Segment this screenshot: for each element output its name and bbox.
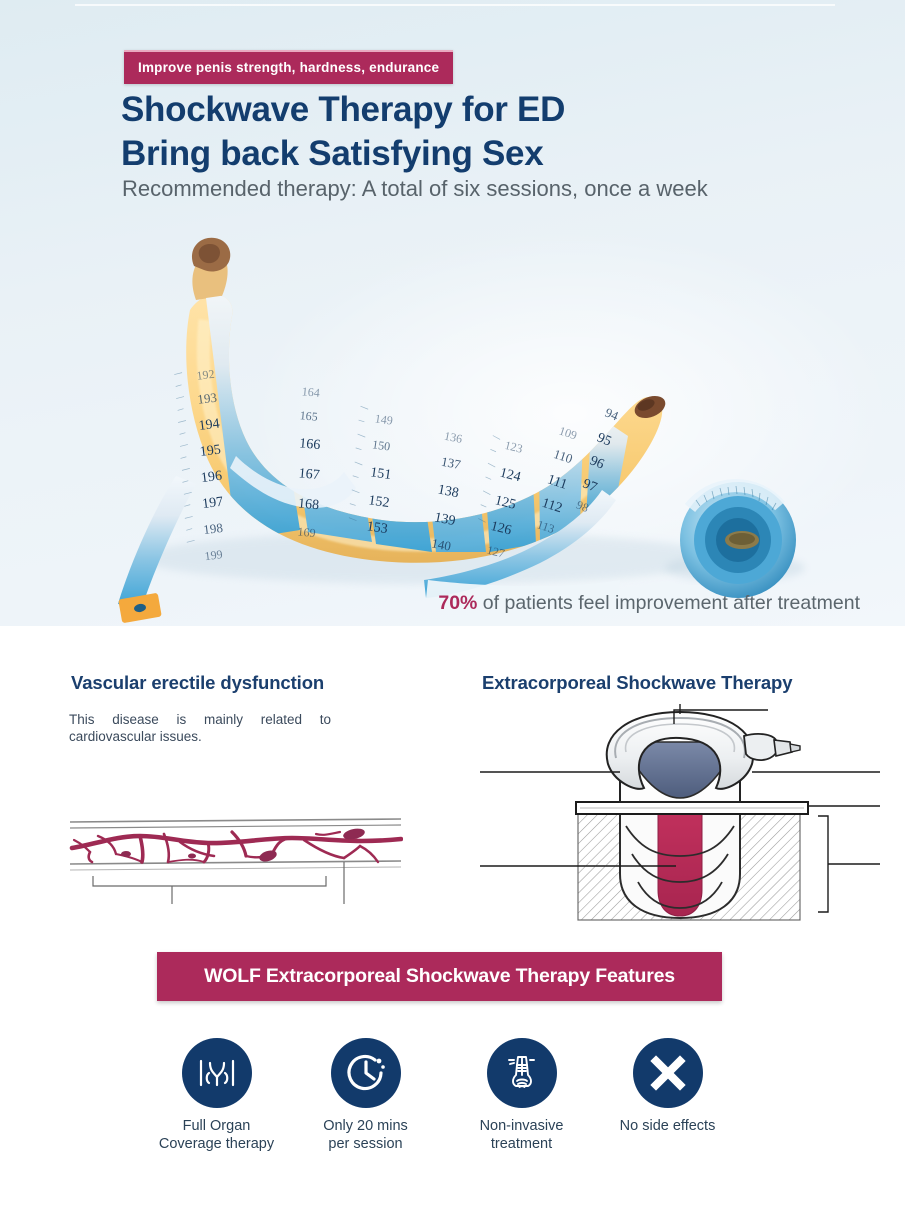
section-title-vascular-ed: Vascular erectile dysfunction (71, 672, 324, 694)
statistic-value: 70% (438, 592, 477, 614)
feature-item-duration: Only 20 mins per session (278, 1038, 453, 1153)
svg-text:167: 167 (298, 466, 320, 483)
feature-caption-4: No side effects (580, 1117, 755, 1135)
cross-x-icon (646, 1051, 690, 1095)
svg-text:164: 164 (301, 384, 320, 400)
feature-caption-3-line2: treatment (434, 1135, 609, 1153)
feature-item-no-side-effects: No side effects (580, 1038, 755, 1135)
svg-text:136: 136 (443, 429, 463, 446)
hero-statistic: 70% of patients feel improvement after t… (438, 592, 860, 615)
svg-text:166: 166 (299, 436, 321, 453)
hero-photo-banana-tape: 192 193 194 195 196 197 198 199 164 165 … (0, 200, 905, 626)
features-banner-label: WOLF Extracorporeal Shockwave Therapy Fe… (204, 965, 675, 988)
eswt-device-diagram (480, 704, 880, 934)
svg-text:137: 137 (440, 454, 462, 473)
svg-text:165: 165 (299, 408, 318, 424)
feature-icon-circle-3 (487, 1038, 557, 1108)
svg-text:194: 194 (198, 416, 221, 433)
clock-icon (344, 1051, 388, 1095)
svg-text:123: 123 (503, 438, 524, 456)
hero-top-divider (75, 4, 835, 6)
svg-text:151: 151 (369, 465, 392, 483)
svg-text:168: 168 (297, 496, 319, 513)
feature-caption-2-line2: per session (278, 1135, 453, 1153)
svg-text:193: 193 (197, 390, 218, 407)
section-title-eswt: Extracorporeal Shockwave Therapy (482, 672, 792, 694)
features-row: Full Organ Coverage therapy Only 20 mins… (0, 1038, 905, 1198)
feature-caption-4-line1: No side effects (580, 1117, 755, 1135)
svg-text:198: 198 (202, 520, 223, 537)
section-body-vascular-ed: This disease is mainly related to cardio… (69, 711, 331, 745)
infographic-page: 192 193 194 195 196 197 198 199 164 165 … (0, 0, 905, 1218)
svg-text:124: 124 (498, 466, 522, 486)
svg-text:110: 110 (552, 446, 575, 466)
svg-text:138: 138 (437, 483, 460, 502)
svg-text:94: 94 (603, 405, 621, 424)
organ-coverage-icon (195, 1051, 239, 1095)
svg-text:152: 152 (367, 493, 390, 511)
vessel-diagram: ​ (68, 814, 403, 932)
svg-text:192: 192 (196, 367, 216, 383)
feature-icon-circle-4 (633, 1038, 703, 1108)
svg-text:150: 150 (371, 437, 391, 453)
feature-caption-2: Only 20 mins per session (278, 1117, 453, 1153)
hero-title-line1: Shockwave Therapy for ED (121, 88, 565, 131)
feature-icon-circle-2 (331, 1038, 401, 1108)
features-banner: WOLF Extracorporeal Shockwave Therapy Fe… (157, 952, 722, 1001)
svg-text:197: 197 (201, 495, 224, 512)
hero-section: 192 193 194 195 196 197 198 199 164 165 … (0, 0, 905, 626)
hero-title-line2: Bring back Satisfying Sex (121, 132, 543, 175)
hero-badge: Improve penis strength, hardness, endura… (124, 50, 453, 84)
svg-text:195: 195 (199, 443, 222, 460)
svg-text:169: 169 (297, 524, 316, 540)
svg-text:199: 199 (204, 547, 224, 563)
feature-icon-circle-1 (182, 1038, 252, 1108)
svg-text:109: 109 (557, 424, 578, 443)
svg-text:196: 196 (200, 469, 223, 486)
handpiece-icon (500, 1051, 544, 1095)
hero-subtitle: Recommended therapy: A total of six sess… (122, 176, 708, 202)
svg-text:149: 149 (374, 411, 394, 427)
feature-caption-2-line1: Only 20 mins (278, 1117, 453, 1135)
svg-text:153: 153 (366, 519, 389, 537)
statistic-text: of patients feel improvement after treat… (477, 592, 860, 614)
